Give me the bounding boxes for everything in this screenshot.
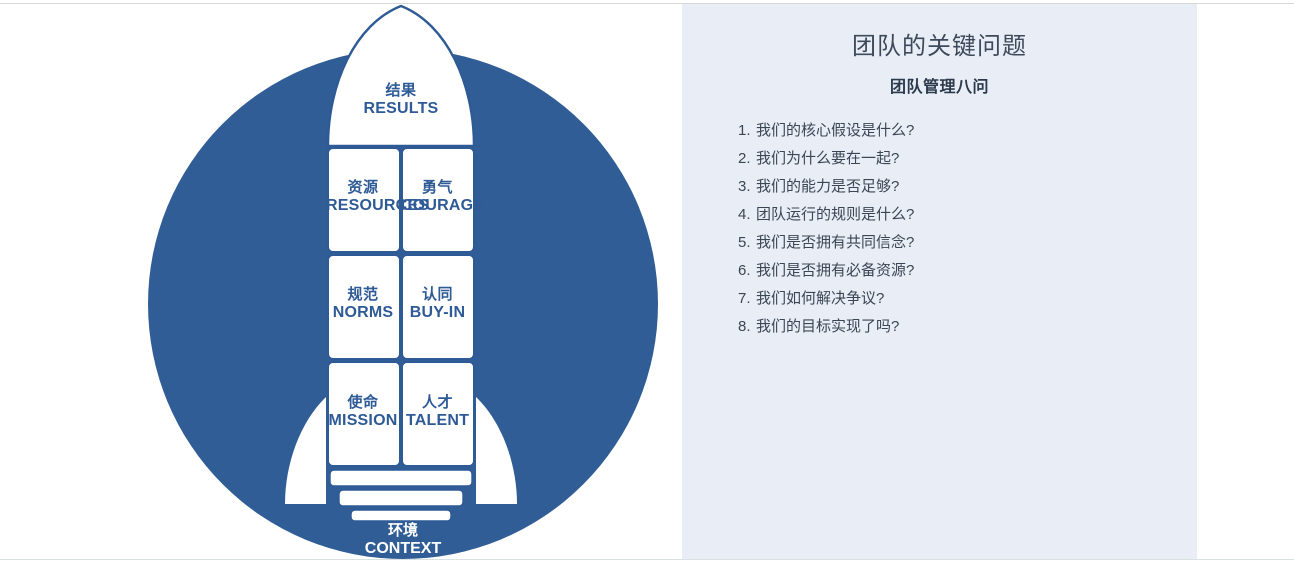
question-text: 我们为什么要在一起?	[756, 150, 899, 167]
rocket-cell-buyin	[402, 255, 474, 359]
rocket-cell-courage	[402, 148, 474, 252]
rocket-cell-mission	[328, 362, 400, 466]
rocket-nose-cone	[328, 6, 474, 146]
question-item: 3.我们的能力是否足够?	[682, 179, 1197, 194]
rocket-diagram-panel: 结果 RESULTS 资源 RESOURCES 勇气 COURAGE 规范 NO…	[0, 4, 682, 559]
questions-panel-title: 团队的关键问题	[682, 4, 1197, 61]
question-text: 团队运行的规则是什么?	[756, 206, 914, 223]
question-number: 6.	[738, 263, 756, 278]
question-text: 我们的目标实现了吗?	[756, 318, 899, 335]
question-item: 7.我们如何解决争议?	[682, 291, 1197, 306]
question-number: 4.	[738, 207, 756, 222]
question-item: 2.我们为什么要在一起?	[682, 151, 1197, 166]
question-number: 7.	[738, 291, 756, 306]
question-text: 我们如何解决争议?	[756, 290, 884, 307]
question-item: 8.我们的目标实现了吗?	[682, 319, 1197, 334]
rocket-engine-tier-1	[330, 470, 472, 486]
question-text: 我们的能力是否足够?	[756, 178, 899, 195]
page-bottom-divider	[0, 559, 1294, 560]
questions-list: 1.我们的核心假设是什么? 2.我们为什么要在一起? 3.我们的能力是否足够? …	[682, 97, 1197, 334]
rocket-engine-tier-3	[351, 510, 451, 521]
questions-panel-subtitle: 团队管理八问	[682, 61, 1197, 97]
rocket-cell-talent	[402, 362, 474, 466]
question-number: 1.	[738, 123, 756, 138]
questions-panel: 团队的关键问题 团队管理八问 1.我们的核心假设是什么? 2.我们为什么要在一起…	[682, 4, 1197, 559]
rocket-cell-norms	[328, 255, 400, 359]
rocket-cell-resources	[328, 148, 400, 252]
question-text: 我们是否拥有必备资源?	[756, 262, 914, 279]
rocket-diagram-graphic	[0, 4, 682, 559]
question-item: 6.我们是否拥有必备资源?	[682, 263, 1197, 278]
question-item: 1.我们的核心假设是什么?	[682, 123, 1197, 138]
question-item: 5.我们是否拥有共同信念?	[682, 235, 1197, 250]
question-number: 8.	[738, 319, 756, 334]
question-number: 2.	[738, 151, 756, 166]
question-item: 4.团队运行的规则是什么?	[682, 207, 1197, 222]
question-text: 我们是否拥有共同信念?	[756, 234, 914, 251]
question-number: 3.	[738, 179, 756, 194]
question-text: 我们的核心假设是什么?	[756, 122, 914, 139]
rocket-engine-tier-2	[339, 490, 463, 506]
question-number: 5.	[738, 235, 756, 250]
